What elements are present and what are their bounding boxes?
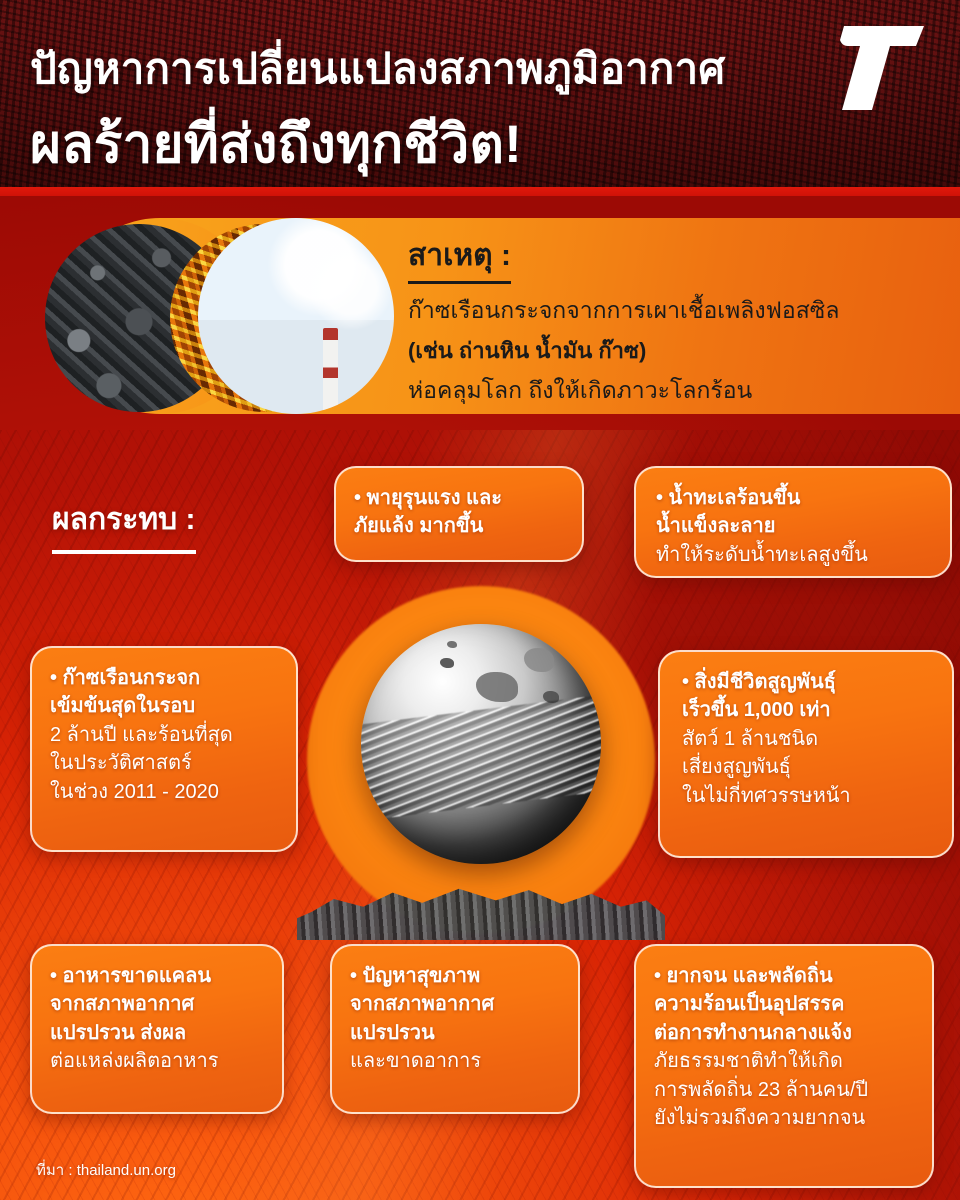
impact-card-line: สัตว์ 1 ล้านชนิด [682,725,934,753]
smokestack-icon [323,328,338,414]
impact-card-line: เข้มข้นสุดในรอบ [50,692,278,720]
impact-card-line: ต่อแหล่งผลิตอาหาร [50,1047,264,1075]
impact-card-line: • ยากจน และพลัดถิ่น [654,962,914,990]
impact-card-line: และขาดอาการ [350,1047,560,1075]
header-title-line2: ผลร้ายที่ส่งถึงทุกชีวิต! [30,102,522,186]
impact-card-line: ในประวัติศาสตร์ [50,749,278,777]
impact-card-line: ต่อการทำงานกลางแจ้ง [654,1019,914,1047]
impact-card-line: • พายุรุนแรง และ [354,484,564,512]
globe-patch [524,648,554,672]
impact-card-line: จากสภาพอากาศ [350,990,560,1018]
impact-card-line: ทำให้ระดับน้ำทะเลสูงขึ้น [656,541,932,569]
impact-card-line: ในช่วง 2011 - 2020 [50,778,278,806]
impact-card-line: • อาหารขาดแคลน [50,962,264,990]
impact-card-line: • น้ำทะเลร้อนขึ้น [656,484,932,512]
header-title-line1: ปัญหาการเปลี่ยนแปลงสภาพภูมิอากาศ [30,36,725,102]
source-credit: ที่มา : thailand.un.org [36,1158,176,1182]
impact-card-sea: • น้ำทะเลร้อนขึ้นน้ำแข็งละลายทำให้ระดับน… [634,466,952,578]
cause-title: สาเหตุ : [408,232,511,284]
impact-card-line: ในไม่กี่ทศวรรษหน้า [682,782,934,810]
globe-patch [476,672,518,702]
impact-card-ghg: • ก๊าซเรือนกระจกเข้มข้นสุดในรอบ2 ล้านปี … [30,646,298,852]
impact-card-line: • ปัญหาสุขภาพ [350,962,560,990]
impact-card-storm: • พายุรุนแรง และภัยแล้ง มากขึ้น [334,466,584,562]
earth-globe-illustration [307,586,655,934]
header-banner: ปัญหาการเปลี่ยนแปลงสภาพภูมิอากาศ ผลร้ายท… [0,0,960,196]
cause-line-1: ก๊าซเรือนกระจกจากการเผาเชื้อเพลิงฟอสซิล [408,293,839,329]
impact-card-line: แปรปรวน [350,1019,560,1047]
cause-line-2: (เช่น ถ่านหิน น้ำมัน ก๊าซ) [408,333,646,368]
impact-card-line: 2 ล้านปี และร้อนที่สุด [50,721,278,749]
impact-card-line: การพลัดถิ่น 23 ล้านคน/ปี [654,1076,914,1104]
impact-card-line: • สิ่งมีชีวิตสูญพันธุ์ [682,668,934,696]
globe-terrain [361,694,601,822]
impact-card-line: ภัยแล้ง มากขึ้น [354,512,564,540]
t-logo-icon [820,16,938,120]
impact-card-health: • ปัญหาสุขภาพจากสภาพอากาศแปรปรวนและขาดอา… [330,944,580,1114]
impact-card-food: • อาหารขาดแคลนจากสภาพอากาศแปรปรวน ส่งผลต… [30,944,284,1114]
cause-line-3: ห่อคลุมโลก ถึงให้เกิดภาวะโลกร้อน [408,373,752,409]
impact-card-poverty: • ยากจน และพลัดถิ่นความร้อนเป็นอุปสรรคต่… [634,944,934,1188]
impact-card-line: น้ำแข็งละลาย [656,512,932,540]
smokestack-photo [198,218,394,414]
impact-section-title: ผลกระทบ : [52,496,196,554]
impact-card-extinction: • สิ่งมีชีวิตสูญพันธุ์เร็วขึ้น 1,000 เท่… [658,650,954,858]
impact-card-line: ยังไม่รวมถึงความยากจน [654,1104,914,1132]
impact-card-line: • ก๊าซเรือนกระจก [50,664,278,692]
globe-patch [440,658,454,668]
impact-card-line: จากสภาพอากาศ [50,990,264,1018]
impact-card-line: ความร้อนเป็นอุปสรรค [654,990,914,1018]
impact-card-line: ภัยธรรมชาติทำให้เกิด [654,1047,914,1075]
globe-patch [447,641,457,648]
globe-sphere [361,624,601,864]
impact-card-line: เร็วขึ้น 1,000 เท่า [682,696,934,724]
impact-card-line: แปรปรวน ส่งผล [50,1019,264,1047]
impact-card-line: เสี่ยงสูญพันธุ์ [682,753,934,781]
